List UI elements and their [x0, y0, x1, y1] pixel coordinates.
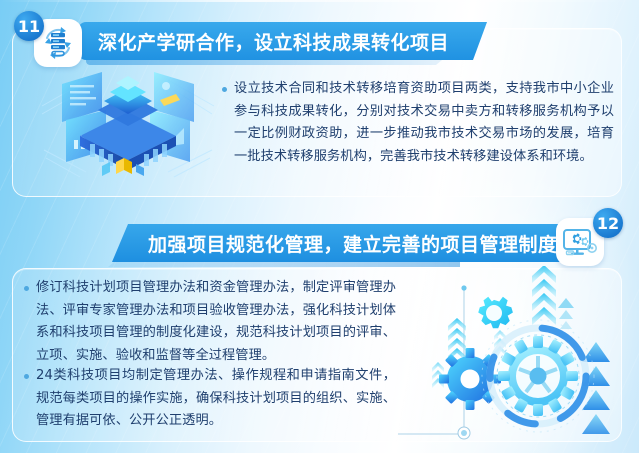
top-hairline: [0, 0, 639, 2]
banner-shadow-12: [108, 262, 460, 267]
section-number-11: 11: [18, 17, 40, 36]
section-number-badge-11: 11: [14, 11, 44, 41]
bullet-item: 修订科技计划项目管理办法和资金管理办法，制定评审管理办法、评审专家管理办法和项目…: [24, 277, 396, 367]
section-title-text-12: 加强项目规范化管理，建立完善的项目管理制度: [148, 230, 558, 257]
bullet-text: 24类科技项目均制定管理办法、操作规程和申请指南文件，规范每类项目的操作实施，确…: [36, 365, 396, 433]
bullet-text: 设立技术合同和技术转移培育资助项目两类，支持我市中小企业参与科技成果转化，分别对…: [234, 78, 614, 168]
gears-illustration: [398, 266, 636, 446]
section-number-12: 12: [597, 214, 619, 233]
infographic-page: 深化产学研合作，设立科技成果转化项目: [0, 0, 639, 453]
bullet-text: 修订科技计划项目管理办法和资金管理办法，制定评审管理办法、评审专家管理办法和项目…: [36, 277, 396, 367]
bullet-item: 设立技术合同和技术转移培育资助项目两类，支持我市中小企业参与科技成果转化，分别对…: [222, 78, 614, 168]
bullet-dot-icon: [24, 286, 29, 291]
section-title-text-11: 深化产学研合作，设立科技成果转化项目: [98, 28, 449, 55]
banner-shadow-11: [86, 60, 442, 65]
bullet-dot-icon: [24, 374, 29, 379]
data-transfer-server-glyph: [38, 23, 78, 63]
section-title-banner-12: 加强项目规范化管理，建立完善的项目管理制度: [112, 224, 576, 262]
bullet-item: 24类科技项目均制定管理办法、操作规程和申请指南文件，规范每类项目的操作实施，确…: [24, 365, 396, 433]
isometric-chip-illustration: [40, 58, 216, 183]
section-number-badge-12: 12: [593, 208, 623, 238]
section-title-banner-11: 深化产学研合作，设立科技成果转化项目: [78, 22, 487, 60]
bullet-dot-icon: [222, 87, 227, 92]
